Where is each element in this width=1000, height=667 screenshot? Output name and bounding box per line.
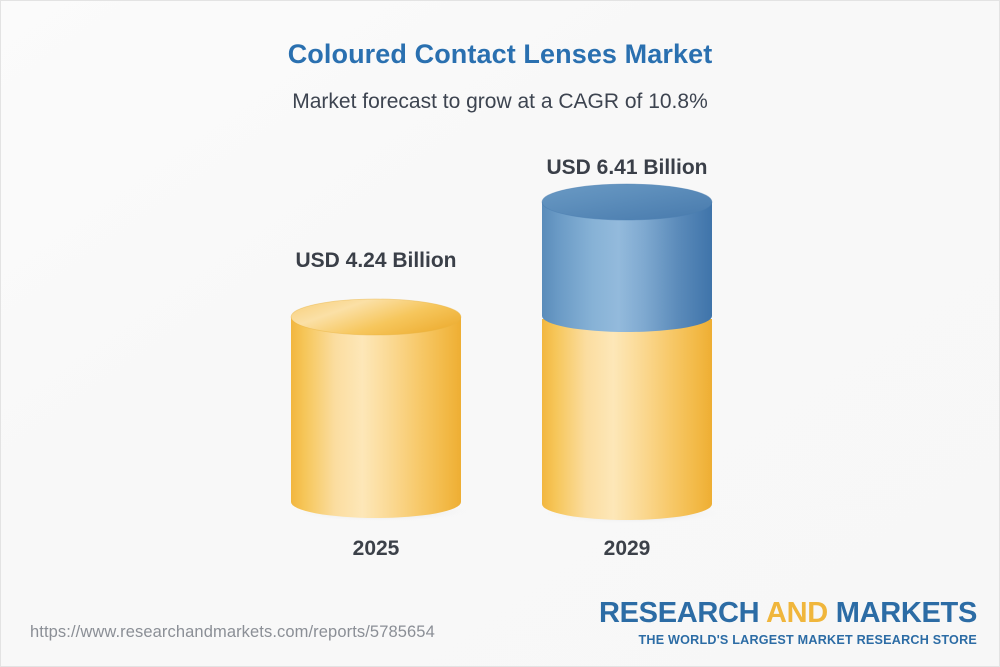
cylinder-2025[interactable] bbox=[286, 249, 466, 519]
logo-text-research: RESEARCH bbox=[599, 597, 766, 629]
cylinder-2029[interactable] bbox=[537, 156, 717, 521]
logo-text-markets: MARKETS bbox=[828, 597, 977, 629]
bar-group-2025: USD 4.24 Billion bbox=[286, 249, 466, 569]
plot-area: USD 4.24 Billion bbox=[1, 1, 1000, 601]
bar-category-label-2025: 2025 bbox=[286, 537, 466, 561]
report-url[interactable]: https://www.researchandmarkets.com/repor… bbox=[30, 623, 435, 642]
chart-canvas: Coloured Contact Lenses Market Market fo… bbox=[0, 0, 1000, 667]
cylinder-base-segment-2029 bbox=[542, 319, 712, 520]
logo-wordmark: RESEARCH AND MARKETS bbox=[599, 599, 977, 628]
bar-category-label-2029: 2029 bbox=[537, 537, 717, 561]
logo-tagline: THE WORLD'S LARGEST MARKET RESEARCH STOR… bbox=[599, 634, 977, 647]
cylinder-growth-segment-2029 bbox=[542, 202, 712, 332]
cylinder-body-2025 bbox=[291, 317, 461, 518]
brand-logo[interactable]: RESEARCH AND MARKETS THE WORLD'S LARGEST… bbox=[599, 599, 977, 647]
logo-text-and: AND bbox=[766, 597, 828, 629]
bar-group-2029: USD 6.41 Billion bbox=[537, 156, 717, 571]
